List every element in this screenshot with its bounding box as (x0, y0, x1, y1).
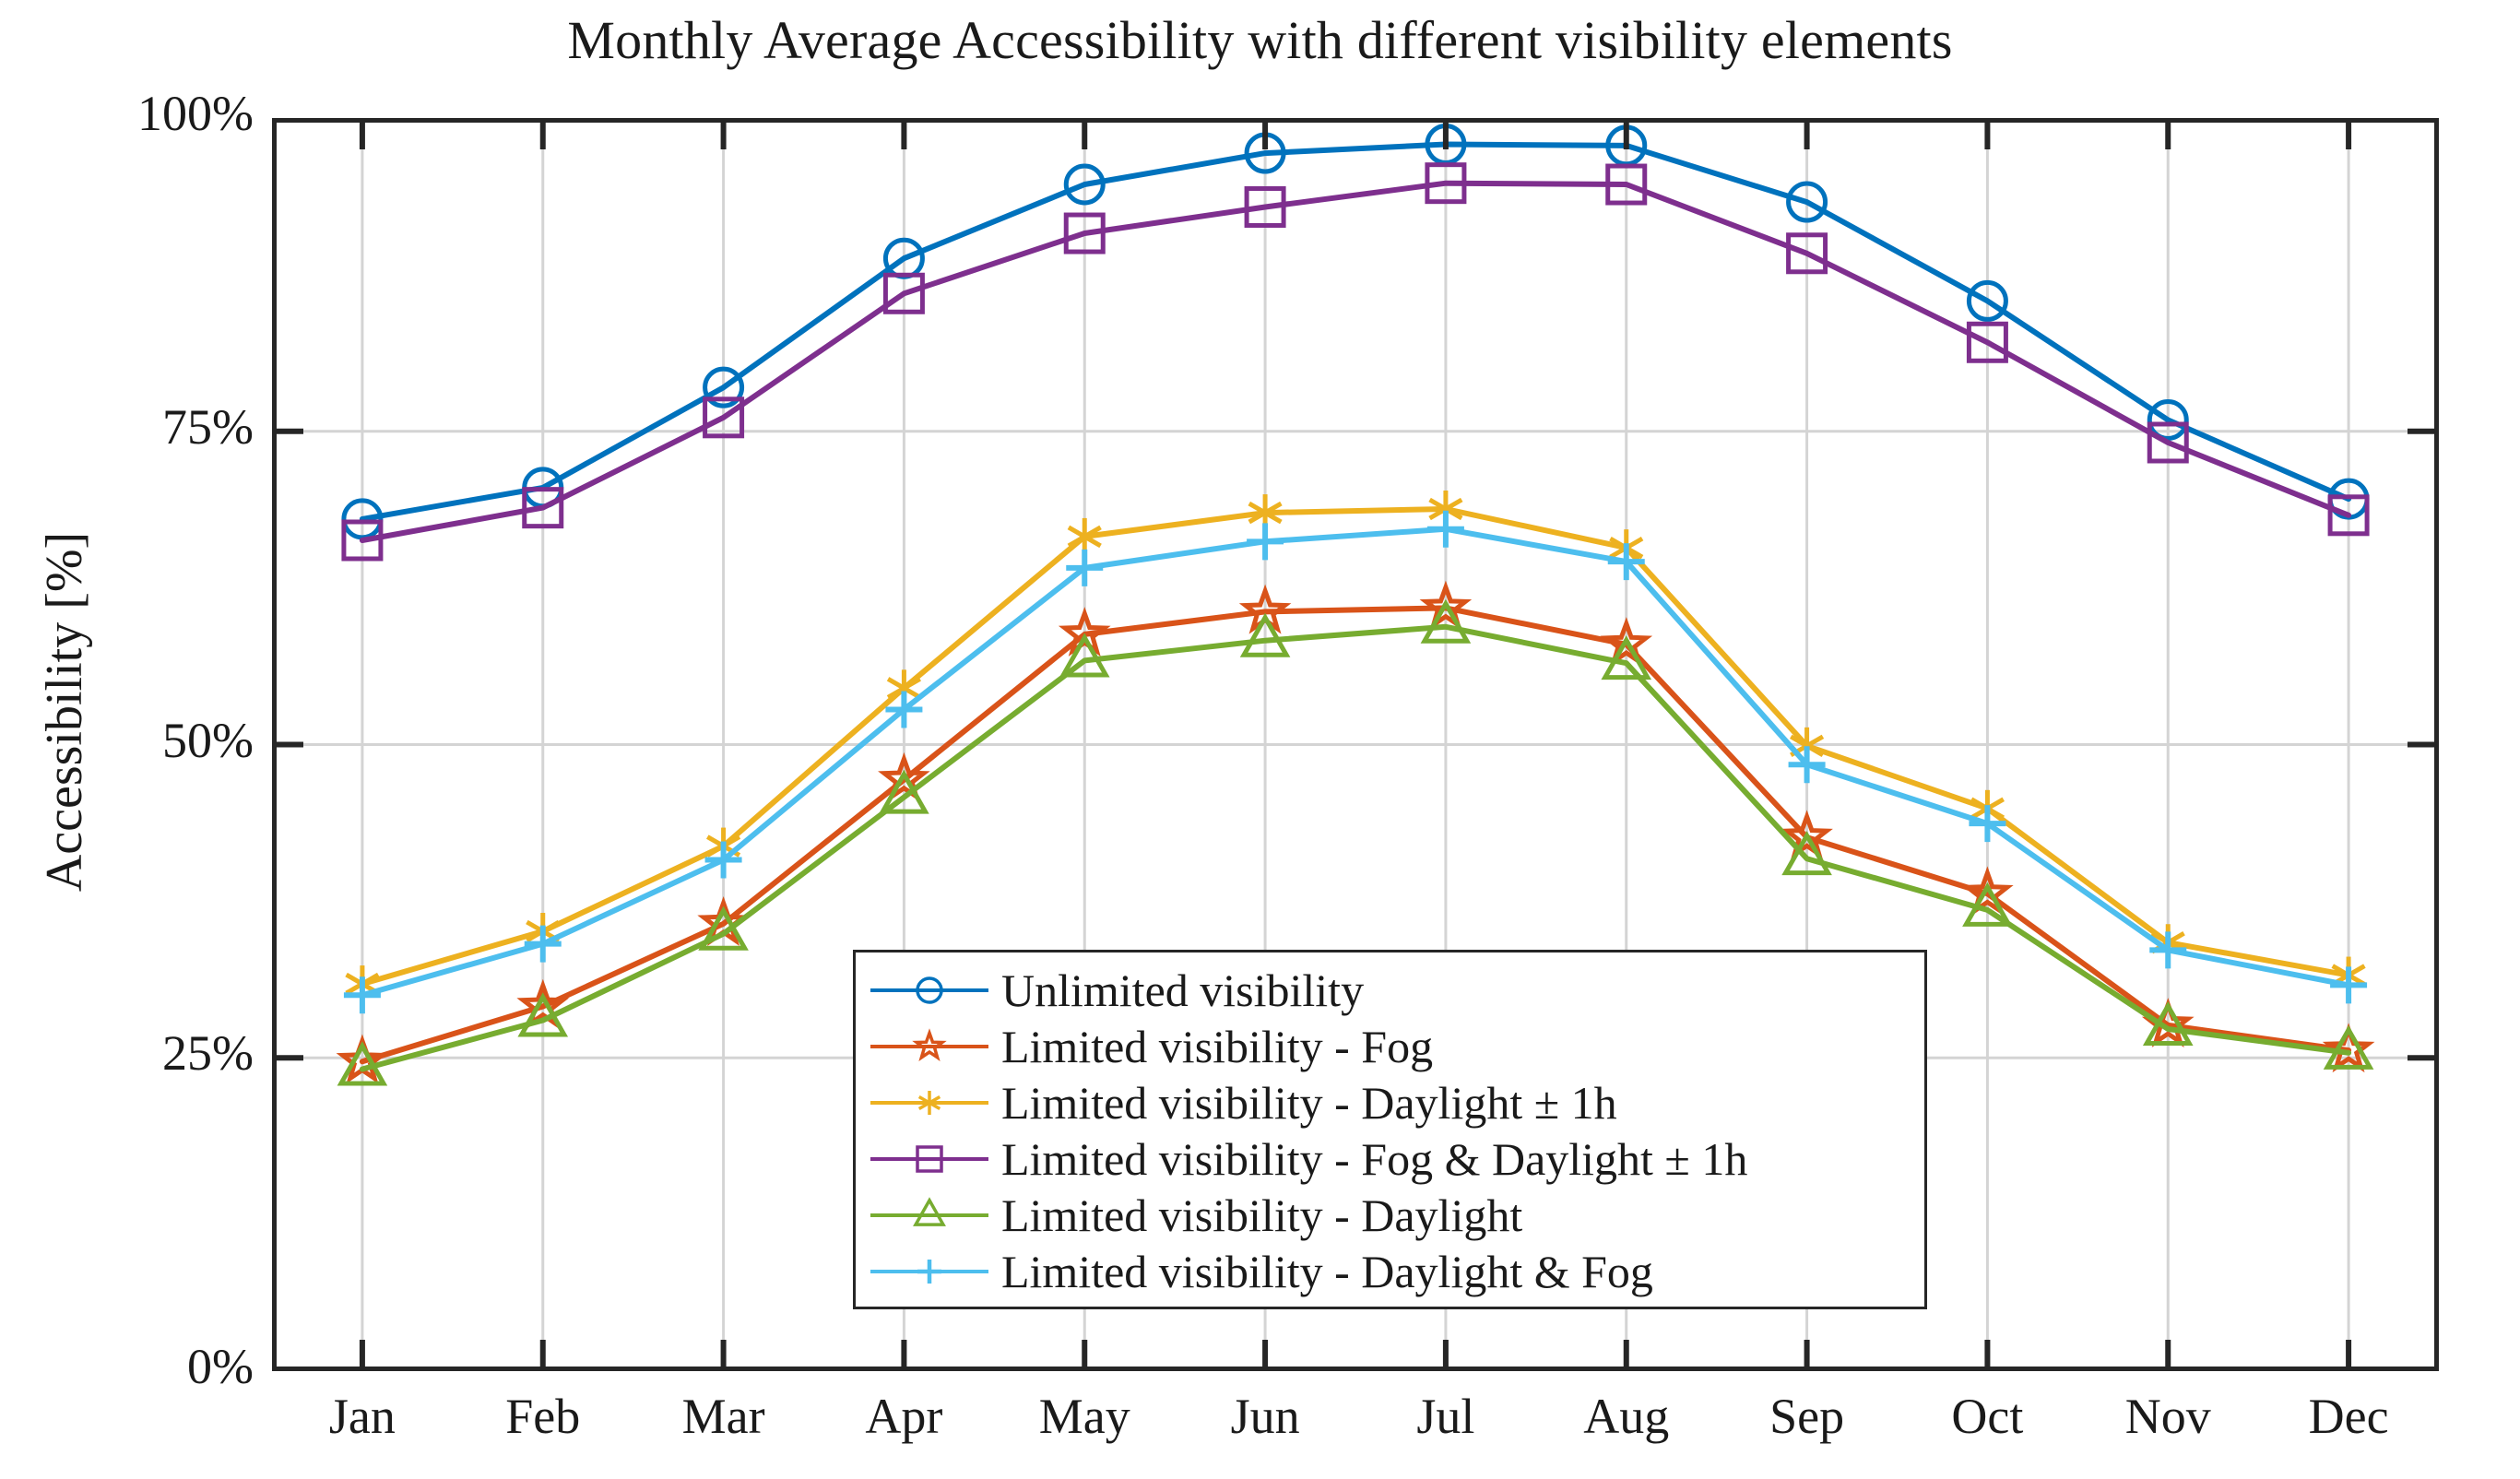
legend-item-5[interactable]: Limited visibility - Daylight & Fog (856, 1243, 1924, 1299)
series-3 (344, 165, 2367, 559)
y-tick-label-25: 25% (162, 1024, 254, 1082)
legend-item-1[interactable]: Limited visibility - Fog (856, 1018, 1924, 1074)
series-0 (344, 126, 2367, 538)
y-tick-label-50: 50% (162, 712, 254, 769)
series-2 (347, 491, 2365, 1002)
legend-marker-plus-icon (869, 1253, 990, 1290)
y-tick-label-100: 100% (137, 85, 254, 142)
legend-marker-circle-icon (869, 972, 990, 1009)
legend-item-3[interactable]: Limited visibility - Fog & Daylight ± 1h (856, 1130, 1924, 1187)
x-tick-label-feb: Feb (505, 1388, 580, 1445)
legend-marker-triangle-icon (869, 1197, 990, 1234)
legend-label-0: Unlimited visibility (1001, 967, 1364, 1013)
legend-item-2[interactable]: Limited visibility - Daylight ± 1h (856, 1074, 1924, 1130)
x-tick-label-aug: Aug (1583, 1388, 1669, 1445)
legend-marker-square-icon (869, 1141, 990, 1177)
legend-label-3: Limited visibility - Fog & Daylight ± 1h (1001, 1136, 1747, 1182)
y-tick-label-0: 0% (187, 1338, 254, 1395)
x-tick-label-oct: Oct (1951, 1388, 2023, 1445)
x-axis-tick-labels: JanFebMarAprMayJunJulAugSepOctNovDec (272, 1388, 2439, 1461)
legend-label-5: Limited visibility - Daylight & Fog (1001, 1248, 1653, 1295)
x-tick-label-jan: Jan (329, 1388, 396, 1445)
legend-marker-asterisk-icon (869, 1084, 990, 1121)
x-tick-label-apr: Apr (865, 1388, 942, 1445)
x-tick-label-mar: Mar (682, 1388, 765, 1445)
y-axis-tick-labels: 0%25%50%75%100% (0, 118, 254, 1371)
chart-figure: Monthly Average Accessibility with diffe… (0, 0, 2520, 1479)
legend-label-2: Limited visibility - Daylight ± 1h (1001, 1080, 1617, 1126)
legend-item-0[interactable]: Unlimited visibility (856, 962, 1924, 1018)
legend-label-4: Limited visibility - Daylight (1001, 1192, 1522, 1238)
chart-title: Monthly Average Accessibility with diffe… (0, 9, 2520, 71)
y-tick-label-75: 75% (162, 398, 254, 456)
x-tick-label-sep: Sep (1769, 1388, 1844, 1445)
x-tick-label-may: May (1039, 1388, 1130, 1445)
x-tick-label-jun: Jun (1231, 1388, 1300, 1445)
legend-label-1: Limited visibility - Fog (1001, 1023, 1433, 1070)
series-5 (344, 511, 2367, 1014)
x-tick-label-nov: Nov (2125, 1388, 2211, 1445)
x-tick-label-jul: Jul (1416, 1388, 1474, 1445)
x-tick-label-dec: Dec (2309, 1388, 2389, 1445)
chart-legend: Unlimited visibilityLimited visibility -… (853, 950, 1927, 1309)
legend-marker-star-icon (869, 1028, 990, 1065)
legend-item-4[interactable]: Limited visibility - Daylight (856, 1187, 1924, 1243)
